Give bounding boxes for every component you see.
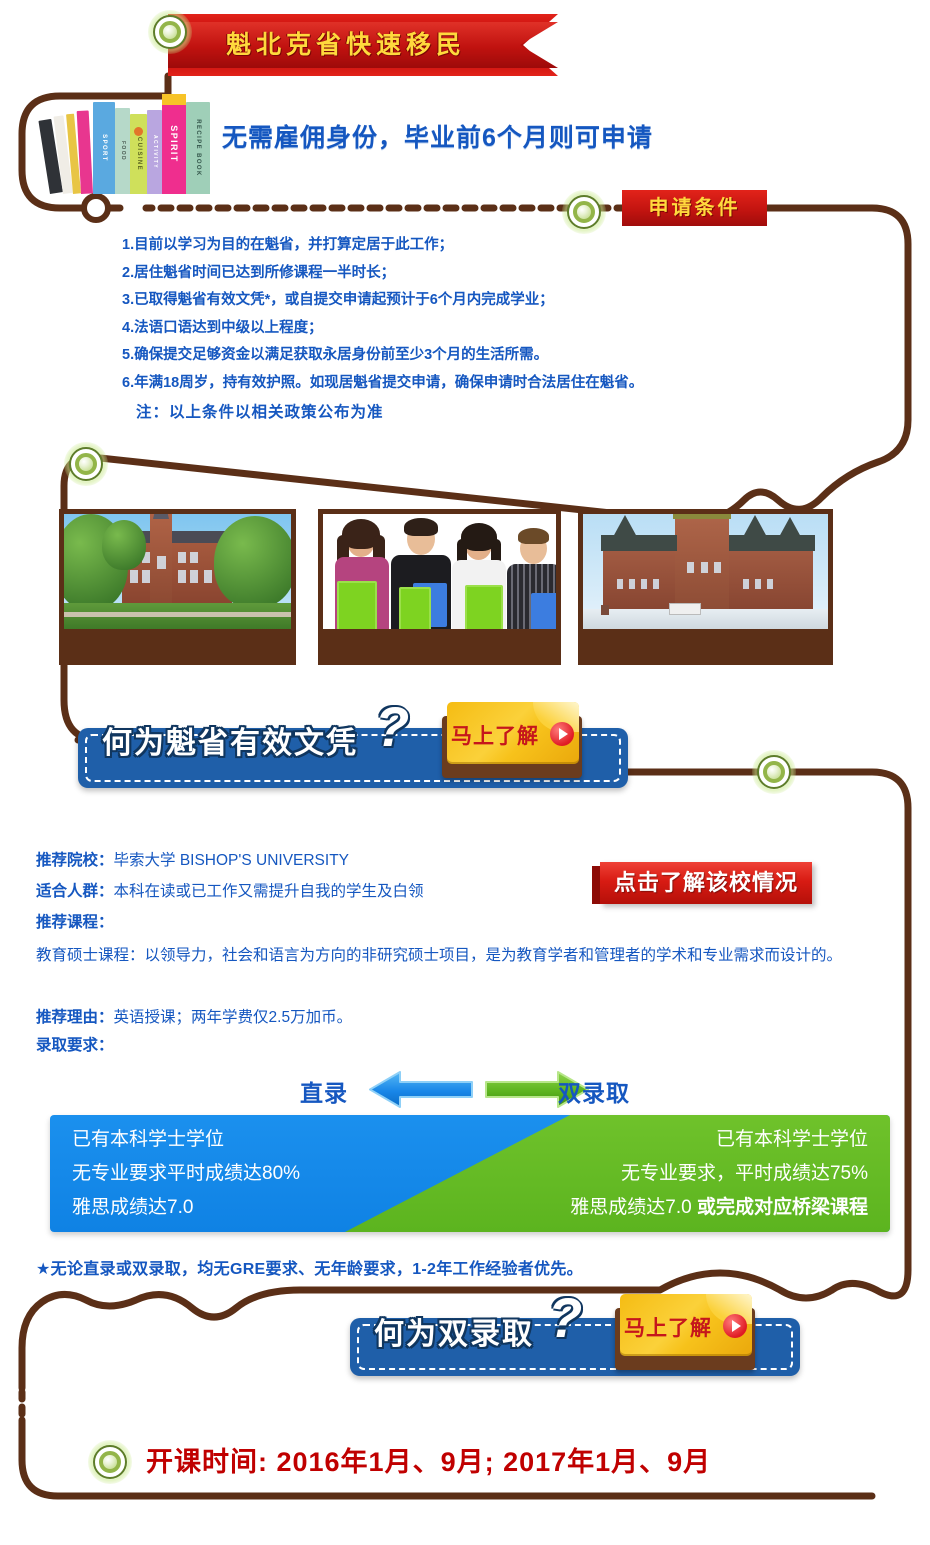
conditions-note: 注：以上条件以相关政策公布为准 [136,399,782,427]
start-date-text: 开课时间: 2016年1月、9月; 2017年1月、9月 [146,1440,711,1479]
stack-of-books-icon: SPORT FOOD CUISINE ACTIVITY SPIRIT RECIP… [48,88,218,196]
page-headline: 无需雇佣身份，毕业前6个月则可申请 [222,118,653,154]
green-ring-icon [64,442,108,486]
rec-school-label: 推荐院校： [36,852,114,869]
list-item: 雅思成绩达7.0 或完成对应桥梁课程 [570,1191,868,1225]
header-ribbon: 魁北克省快速移民 [168,14,558,76]
list-item: 6.年满18周岁，持有效护照。如现居魁省提交申请，确保申请时合法居住在魁省。 [122,370,782,398]
admission-requirements-panel: 已有本科学士学位 无专业要求平时成绩达80% 雅思成绩达7.0 已有本科学士学位… [50,1115,890,1232]
why-label: 推荐理由： [36,1009,114,1026]
ribbon-title: 魁北克省快速移民 [168,22,524,68]
chateau-frontenac-photo [578,509,833,665]
campus-building-photo [59,509,296,665]
arrow-left-blue-icon [366,1068,476,1110]
list-item: 1.目前以学习为目的在魁省，并打算定居于此工作； [122,232,782,260]
list-item: 已有本科学士学位 [72,1123,300,1157]
banner-dual-text: 何为双录取 [374,1309,534,1353]
list-item: 2.居住魁省时间已达到所修课程一半时长； [122,260,782,288]
list-item: 5.确保提交足够资金以满足获取永居身份前至少3个月的生活所需。 [122,342,782,370]
course-description: 教育硕士课程：以领导力，社会和语言为方向的非研究硕士项目，是为教育学者和管理者的… [36,940,866,971]
audience-label: 适合人群： [36,883,114,900]
list-item: 无专业要求，平时成绩达75% [570,1157,868,1191]
school-info: 推荐院校：毕索大学 BISHOP'S UNIVERSITY 适合人群：本科在读或… [36,845,596,938]
green-ring-icon [88,1440,132,1484]
play-circle-icon [550,722,574,746]
play-circle-icon [723,1314,747,1338]
audience-value: 本科在读或已工作又需提升自我的学生及白领 [114,883,424,900]
why-value: 英语授课；两年学费仅2.5万加币。 [114,1009,353,1026]
course-label: 推荐课程： [36,914,114,931]
students-group-photo [318,509,561,665]
book-label: RECIPE BOOK [195,119,201,176]
cta-learn-more-dual[interactable]: 马上了解 [610,1290,760,1372]
cta-label: 马上了解 [624,1312,712,1342]
admission-star-note: ★无论直录或双录取，均无GRE要求、无年龄要求，1-2年工作经验者优先。 [36,1255,583,1279]
book-label: SPORT [101,134,107,162]
green-ring-icon [752,750,796,794]
requirements-left-list: 已有本科学士学位 无专业要求平时成绩达80% 雅思成绩达7.0 [72,1123,300,1225]
book-label: FOOD [120,141,126,161]
recommend-reason: 推荐理由：英语授课；两年学费仅2.5万加币。 [36,1002,636,1033]
list-item: 3.已取得魁省有效文凭*，或自提交申请起预计于6个月内完成学业； [122,287,782,315]
list-item: 4.法语口语达到中级以上程度； [122,315,782,343]
question-mark-icon: ? [375,694,409,759]
banner-diploma-text: 何为魁省有效文凭 [102,718,358,762]
cta-label: 马上了解 [451,720,539,750]
requirements-right-list: 已有本科学士学位 无专业要求，平时成绩达75% 雅思成绩达7.0 或完成对应桥梁… [570,1123,868,1225]
list-item: 无专业要求平时成绩达80% [72,1157,300,1191]
admission-right-label: 双录取 [558,1074,630,1108]
list-item: 已有本科学士学位 [570,1123,868,1157]
admission-req-label: 录取要求： [36,1033,114,1055]
admission-left-label: 直录 [300,1074,348,1108]
book-label: CUISINE [136,137,142,171]
list-item: 雅思成绩达7.0 [72,1191,300,1225]
admission-arrows: 直录 双录取 [300,1068,650,1110]
book-label: SPIRIT [169,125,179,162]
conditions-list: 1.目前以学习为目的在魁省，并打算定居于此工作； 2.居住魁省时间已达到所修课程… [122,232,782,427]
book-label: ACTIVITY [152,135,158,169]
question-mark-icon: ? [548,1285,582,1350]
detail-button-school[interactable]: 点击了解该校情况 [600,862,812,904]
green-ring-icon [562,190,606,234]
green-ring-icon [148,10,192,54]
cta-learn-more-diploma[interactable]: 马上了解 [437,698,587,780]
rec-school-value: 毕索大学 BISHOP'S UNIVERSITY [114,852,350,869]
section-tag-conditions: 申请条件 [622,190,767,226]
infographic-page: 魁北克省快速移民 SPORT FOOD CUISINE ACTIVITY SPI… [0,0,930,1545]
